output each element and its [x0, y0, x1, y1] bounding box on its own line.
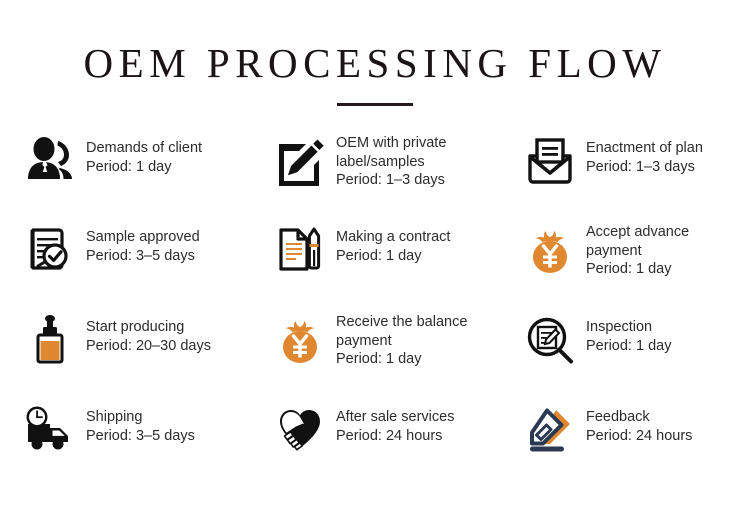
step-period: Period: 1–3 days — [586, 158, 703, 177]
step-text: Accept advance payment Period: 1 day — [578, 222, 689, 279]
envelope-document-icon — [522, 133, 578, 197]
page-title: OEM PROCESSING FLOW — [0, 42, 750, 85]
pencil-feedback-icon — [522, 402, 578, 466]
step-period: Period: 3–5 days — [86, 427, 195, 446]
step-period: Period: 1–3 days — [336, 171, 446, 190]
step-text: Shipping Period: 3–5 days — [78, 402, 195, 445]
step-item: Start producing Period: 20–30 days — [0, 312, 250, 402]
step-text: Making a contract Period: 1 day — [328, 222, 450, 265]
step-item: Enactment of plan Period: 1–3 days — [500, 133, 750, 222]
step-period: Period: 20–30 days — [86, 337, 211, 356]
step-label: Accept advance payment — [586, 223, 689, 260]
step-text: Inspection Period: 1 day — [578, 312, 671, 355]
money-bag-yen-icon — [272, 312, 328, 378]
magnifier-document-icon — [522, 312, 578, 376]
step-item: OEM with private label/samples Period: 1… — [250, 133, 500, 222]
oem-processing-flow-page: OEM PROCESSING FLOW Demands of client Pe… — [0, 0, 750, 521]
step-item: Making a contract Period: 1 day — [250, 222, 500, 312]
step-text: Start producing Period: 20–30 days — [78, 312, 211, 355]
step-text: Sample approved Period: 3–5 days — [78, 222, 200, 265]
step-label: Start producing — [86, 318, 211, 337]
dropper-bottle-icon — [22, 312, 78, 376]
contract-pen-icon — [272, 222, 328, 286]
title-divider — [337, 103, 413, 106]
page-header: OEM PROCESSING FLOW — [0, 42, 750, 106]
step-period: Period: 1 day — [586, 337, 671, 356]
step-item: Demands of client Period: 1 day — [0, 133, 250, 222]
step-label: Receive the balance payment — [336, 313, 467, 350]
step-label: Inspection — [586, 318, 671, 337]
step-period: Period: 3–5 days — [86, 247, 200, 266]
step-period: Period: 1 day — [586, 260, 689, 279]
document-check-magnifier-icon — [22, 222, 78, 286]
step-label: OEM with private label/samples — [336, 134, 446, 171]
step-item: Feedback Period: 24 hours — [500, 402, 750, 488]
step-label: Making a contract — [336, 228, 450, 247]
step-period: Period: 1 day — [336, 247, 450, 266]
step-item: Accept advance payment Period: 1 day — [500, 222, 750, 312]
step-text: OEM with private label/samples Period: 1… — [328, 133, 446, 190]
step-text: Receive the balance payment Period: 1 da… — [328, 312, 467, 369]
handshake-heart-icon — [272, 402, 328, 466]
step-period: Period: 1 day — [336, 350, 467, 369]
step-label: After sale services — [336, 408, 454, 427]
step-period: Period: 24 hours — [336, 427, 454, 446]
step-period: Period: 24 hours — [586, 427, 692, 446]
step-label: Shipping — [86, 408, 195, 427]
step-text: Demands of client Period: 1 day — [78, 133, 202, 176]
step-label: Sample approved — [86, 228, 200, 247]
users-icon — [22, 133, 78, 197]
edit-square-icon — [272, 133, 328, 199]
step-text: Feedback Period: 24 hours — [578, 402, 692, 445]
step-label: Demands of client — [86, 139, 202, 158]
money-bag-yen-icon — [522, 222, 578, 288]
steps-grid: Demands of client Period: 1 day OEM with… — [0, 133, 750, 513]
step-text: Enactment of plan Period: 1–3 days — [578, 133, 703, 176]
step-text: After sale services Period: 24 hours — [328, 402, 454, 445]
step-item: Sample approved Period: 3–5 days — [0, 222, 250, 312]
step-label: Enactment of plan — [586, 139, 703, 158]
step-label: Feedback — [586, 408, 692, 427]
truck-clock-icon — [22, 402, 78, 466]
step-item: Inspection Period: 1 day — [500, 312, 750, 402]
step-item: Shipping Period: 3–5 days — [0, 402, 250, 488]
step-item: After sale services Period: 24 hours — [250, 402, 500, 488]
step-period: Period: 1 day — [86, 158, 202, 177]
step-item: Receive the balance payment Period: 1 da… — [250, 312, 500, 402]
